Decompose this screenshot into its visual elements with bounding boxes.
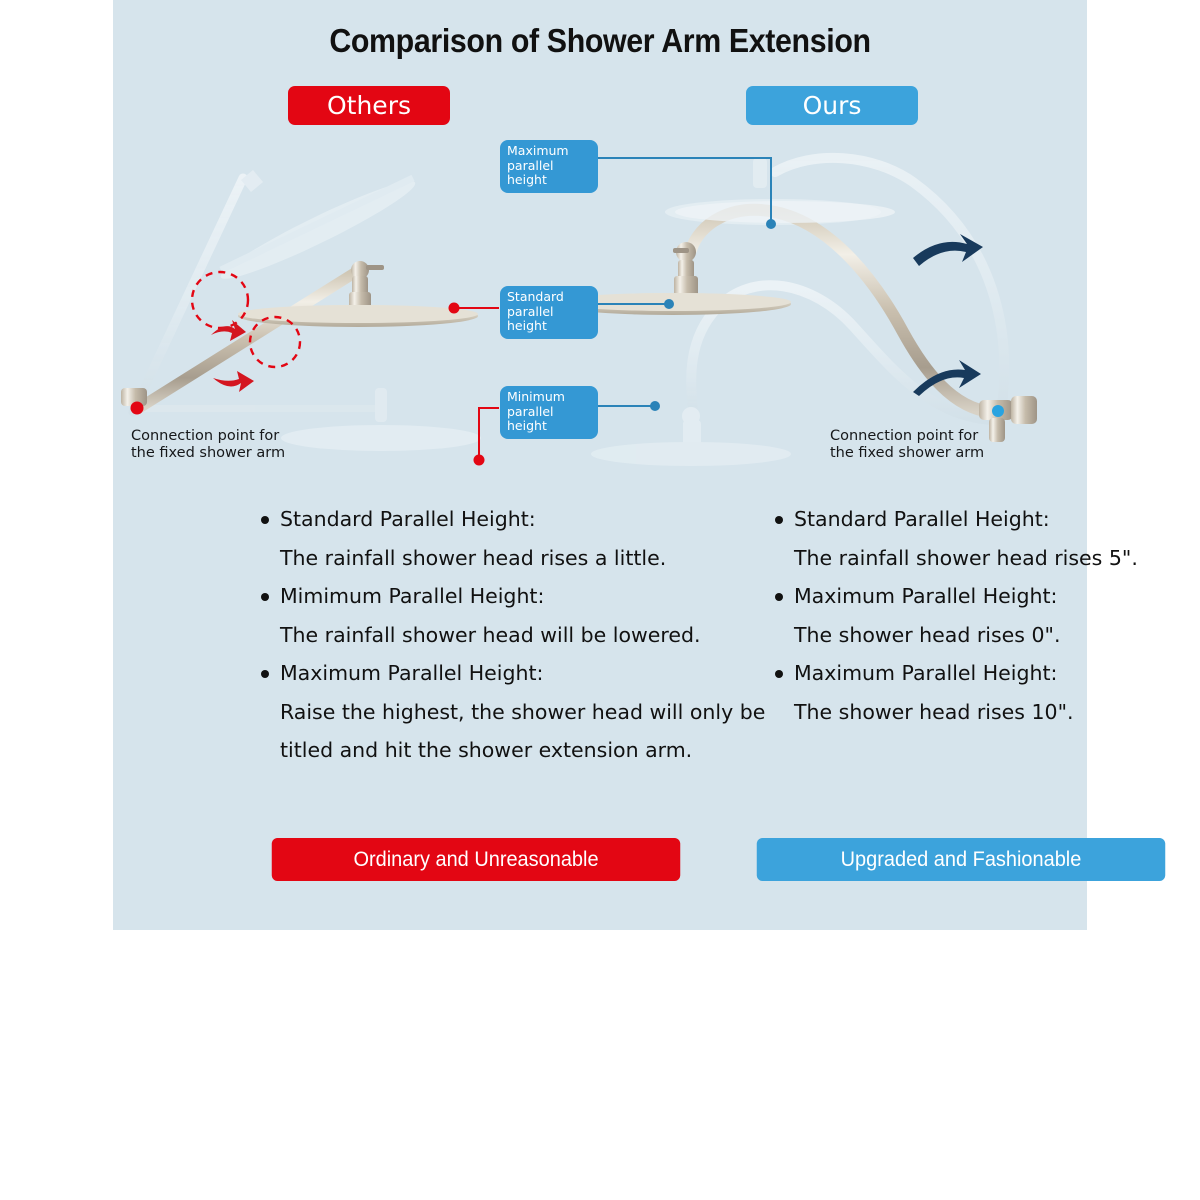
callout-maximum-parallel-height: Maximum parallel height: [500, 140, 598, 193]
callout-minimum-parallel-height: Minimum parallel height: [500, 386, 598, 439]
list-item: Standard Parallel Height: The rainfall s…: [261, 500, 781, 577]
bullet-icon: [261, 593, 269, 601]
bullet-icon: [775, 670, 783, 678]
verdict-banner-ours: Upgraded and Fashionable: [757, 838, 1166, 881]
feature-detail: The rainfall shower head rises a little.: [261, 539, 781, 578]
feature-detail: Raise the highest, the shower head will …: [261, 693, 781, 770]
callout-standard-parallel-height: Standard parallel height: [500, 286, 598, 339]
verdict-banner-others: Ordinary and Unreasonable: [272, 838, 681, 881]
others-ghost-max-position: [133, 170, 421, 412]
feature-detail: The rainfall shower head rises 5".: [775, 539, 1200, 578]
feature-heading: Maximum Parallel Height:: [775, 577, 1200, 616]
connection-point-dot-left: [131, 402, 144, 415]
list-item: Maximum Parallel Height: The shower head…: [775, 654, 1200, 731]
bullet-icon: [261, 516, 269, 524]
feature-heading-text: Mimimum Parallel Height:: [280, 584, 544, 608]
connection-point-dot-right: [992, 405, 1004, 417]
connection-caption-line2: the fixed shower arm: [830, 445, 984, 462]
feature-heading-text: Maximum Parallel Height:: [794, 661, 1057, 685]
feature-heading: Standard Parallel Height:: [261, 500, 781, 539]
collision-marker-icon: [192, 272, 248, 328]
feature-list-others: Standard Parallel Height: The rainfall s…: [261, 500, 781, 770]
feature-heading-text: Maximum Parallel Height:: [794, 584, 1057, 608]
connection-caption-left: Connection point for the fixed shower ar…: [131, 428, 285, 462]
feature-heading: Standard Parallel Height:: [775, 500, 1200, 539]
connection-caption-line1: Connection point for: [830, 428, 984, 445]
list-item: Maximum Parallel Height: The shower head…: [775, 577, 1200, 654]
others-product-graphic: [121, 170, 481, 451]
feature-list-ours: Standard Parallel Height: The rainfall s…: [775, 500, 1200, 731]
feature-heading-text: Standard Parallel Height:: [280, 507, 536, 531]
comparison-card: Comparison of Shower Arm Extension Other…: [113, 0, 1087, 930]
list-item: Standard Parallel Height: The rainfall s…: [775, 500, 1200, 577]
feature-heading-text: Standard Parallel Height:: [794, 507, 1050, 531]
bullet-icon: [261, 670, 269, 678]
feature-detail: The shower head rises 0".: [775, 616, 1200, 655]
list-item: Mimimum Parallel Height: The rainfall sh…: [261, 577, 781, 654]
connection-caption-line2: the fixed shower arm: [131, 445, 285, 462]
connection-caption-right: Connection point for the fixed shower ar…: [830, 428, 984, 462]
feature-heading: Maximum Parallel Height:: [775, 654, 1200, 693]
feature-heading: Mimimum Parallel Height:: [261, 577, 781, 616]
feature-detail: The rainfall shower head will be lowered…: [261, 616, 781, 655]
feature-detail: The shower head rises 10".: [775, 693, 1200, 732]
feature-heading-text: Maximum Parallel Height:: [280, 661, 543, 685]
list-item: Maximum Parallel Height: Raise the highe…: [261, 654, 781, 770]
product-illustration: [113, 120, 1087, 480]
connection-caption-line1: Connection point for: [131, 428, 285, 445]
bullet-icon: [775, 593, 783, 601]
feature-heading: Maximum Parallel Height:: [261, 654, 781, 693]
ours-product-graphic: [555, 158, 1037, 466]
page-title: Comparison of Shower Arm Extension: [152, 22, 1048, 60]
bullet-icon: [775, 516, 783, 524]
illustration-stage: Maximum parallel height Standard paralle…: [113, 120, 1087, 480]
